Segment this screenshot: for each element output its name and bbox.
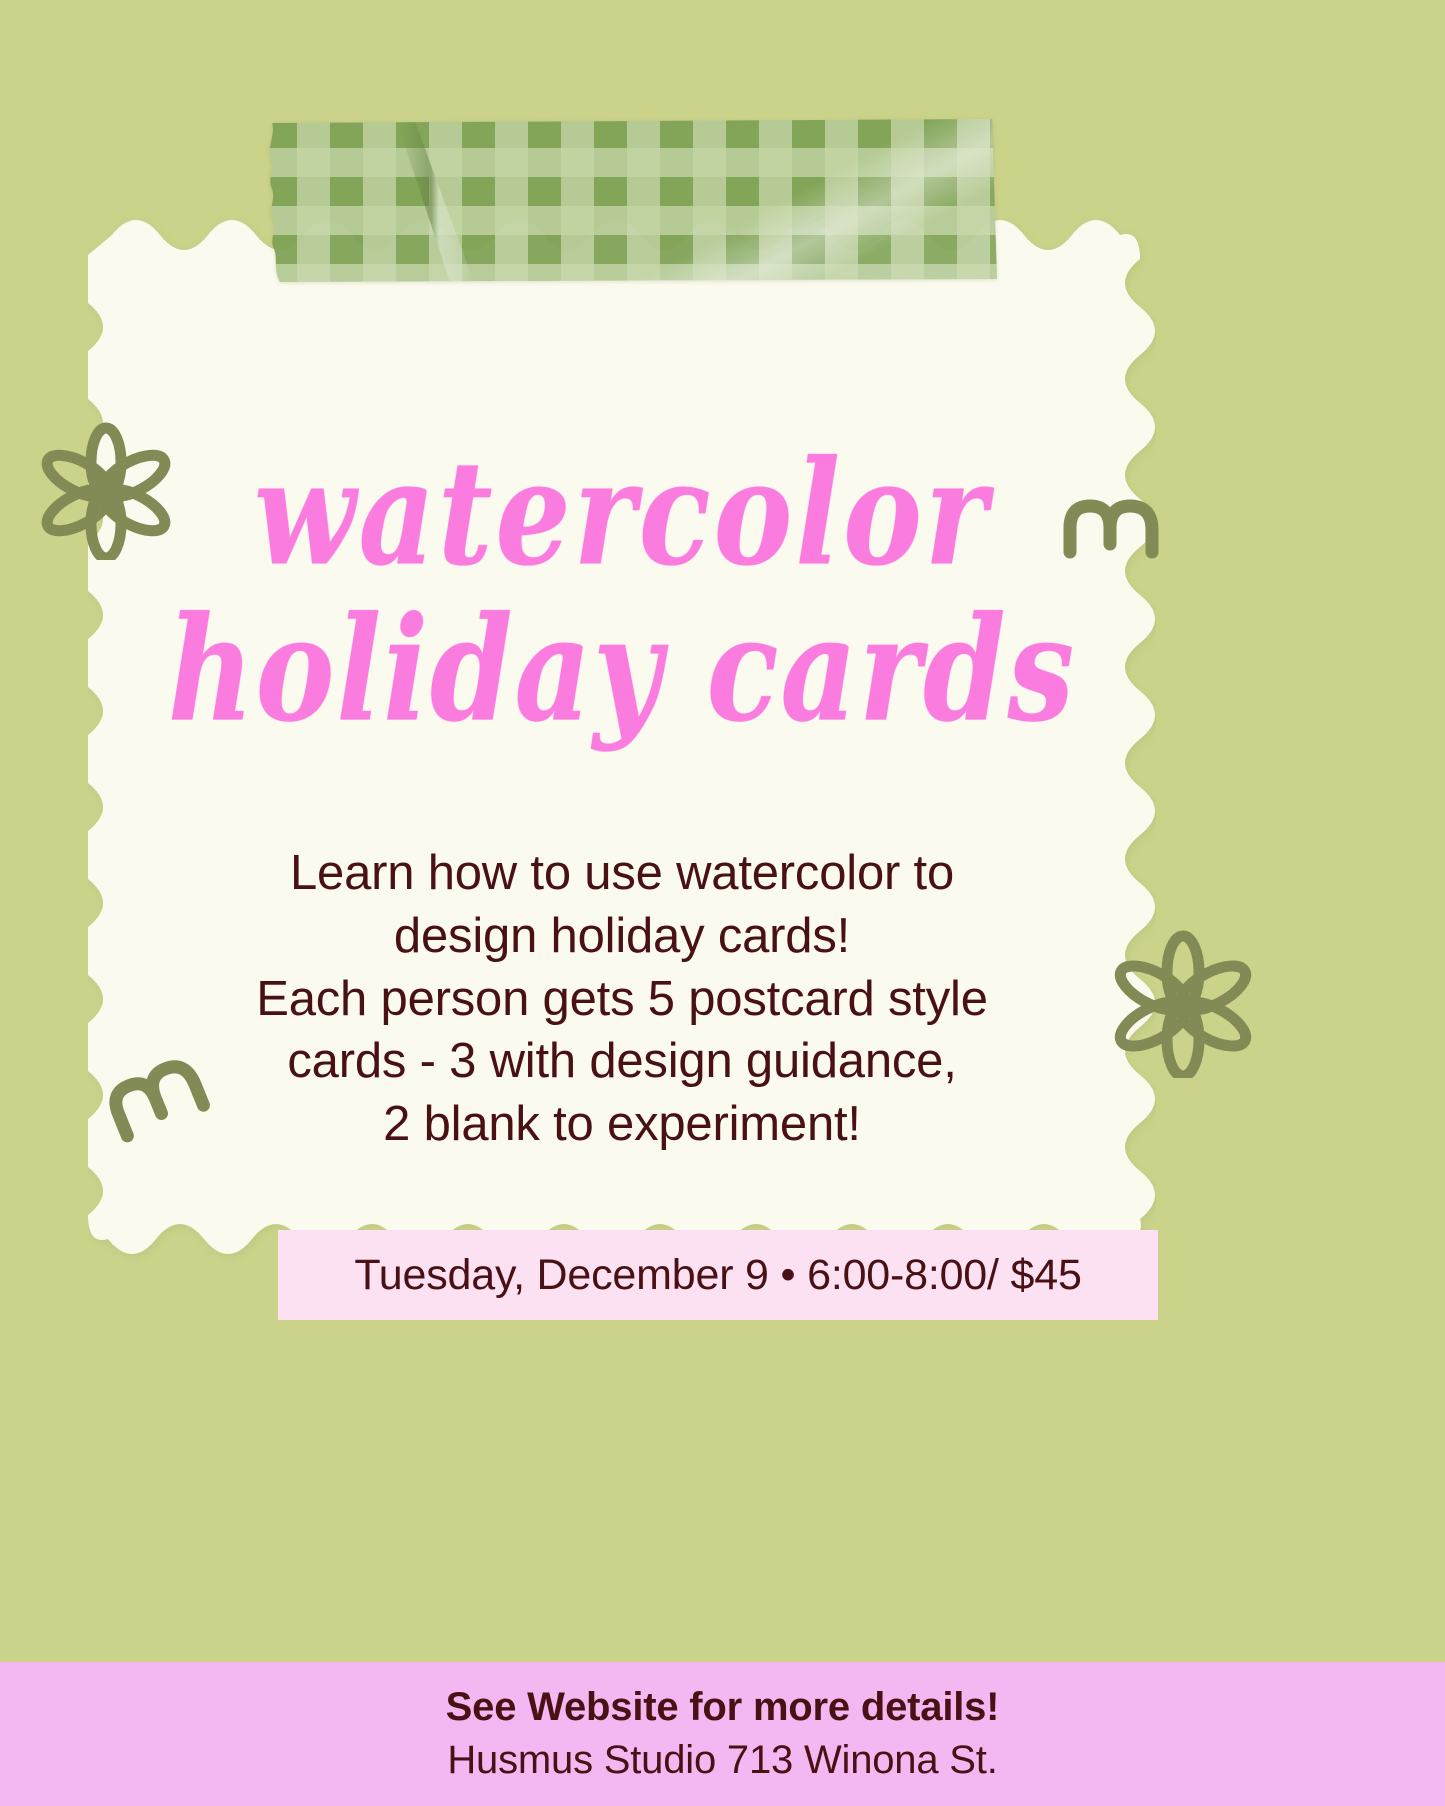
date-price-banner: Tuesday, December 9 • 6:00-8:00/ $45: [278, 1230, 1158, 1320]
card-content: watercolor holiday cards Learn how to us…: [88, 205, 1156, 1413]
footer-band: See Website for more details! Husmus Stu…: [0, 1662, 1445, 1806]
description-line-3: Each person gets 5 postcard style: [256, 968, 988, 1031]
description-line-2: design holiday cards!: [256, 905, 988, 968]
washi-tape: [264, 119, 999, 282]
description-line-5: 2 blank to experiment!: [256, 1093, 988, 1156]
footer-line-1: See Website for more details!: [446, 1683, 1000, 1732]
page-title: watercolor holiday cards: [168, 223, 1076, 739]
flyer-card: watercolor holiday cards Learn how to us…: [88, 205, 1156, 1413]
title-line-1: watercolor: [168, 443, 1076, 584]
flower-doodle-left: [36, 420, 176, 560]
title-line-2: holiday cards: [168, 598, 1076, 739]
squiggle-doodle-right: [1060, 492, 1170, 564]
date-price-text: Tuesday, December 9 • 6:00-8:00/ $45: [354, 1251, 1081, 1300]
poster-root: watercolor holiday cards Learn how to us…: [0, 0, 1445, 1806]
flower-doodle-right: [1108, 928, 1258, 1078]
description-line-4: cards - 3 with design guidance,: [256, 1030, 988, 1093]
description-line-1: Learn how to use watercolor to: [256, 842, 988, 905]
footer-line-2: Husmus Studio 713 Winona St.: [447, 1736, 997, 1785]
